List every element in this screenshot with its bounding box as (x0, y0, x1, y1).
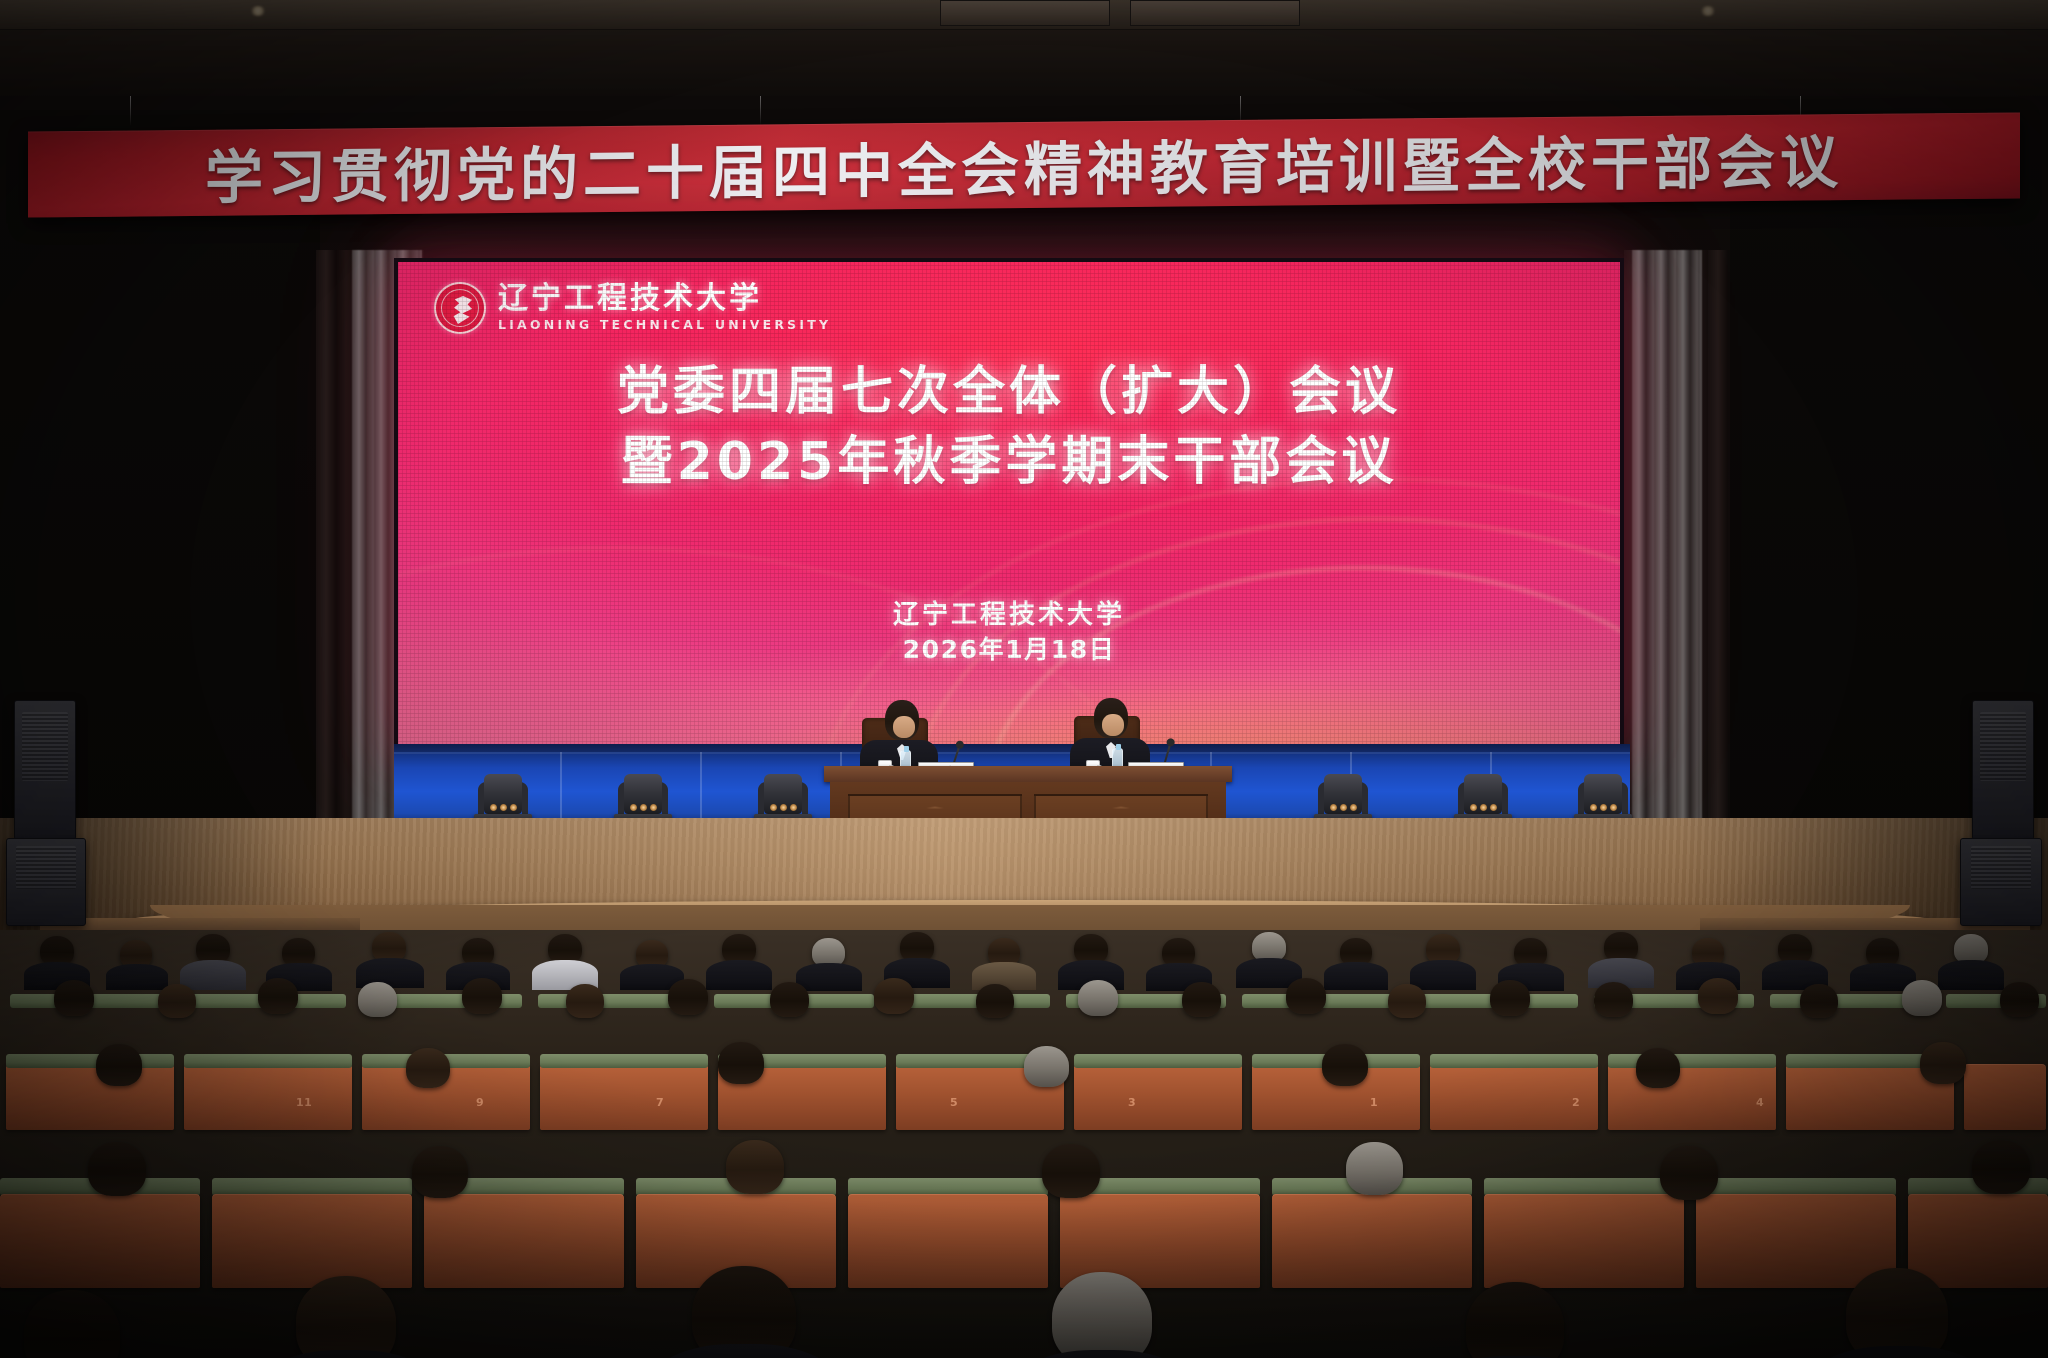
line-array-speaker-left (14, 700, 76, 840)
seat-number: 1 (1370, 1096, 1378, 1109)
table-top (824, 766, 1232, 782)
audience-seating: 11 9 7 5 3 1 2 4 (0, 930, 2048, 1358)
led-vignette (398, 262, 1620, 754)
ceiling-light (1700, 6, 1716, 16)
line-array-speaker-left-sub (6, 838, 86, 926)
seat-number: 4 (1756, 1096, 1764, 1109)
line-array-speaker-right-sub (1960, 838, 2042, 926)
sheer-curtain-right (1632, 250, 1702, 845)
conference-hall-photo: 学习贯彻党的二十届四中全会精神教育培训暨全校干部会议 辽宁工程技术大学 LIAO… (0, 0, 2048, 1358)
line-array-speaker-right (1972, 700, 2034, 840)
ceiling-vent (940, 0, 1110, 26)
seat-number: 2 (1572, 1096, 1580, 1109)
banner-headline: 学习贯彻党的二十届四中全会精神教育培训暨全校干部会议 (28, 113, 2020, 216)
led-screen-surface: 辽宁工程技术大学 LIAONING TECHNICAL UNIVERSITY 党… (398, 262, 1620, 754)
seat-number: 9 (476, 1096, 484, 1109)
seat-number: 5 (950, 1096, 958, 1109)
ceiling-light (250, 6, 266, 16)
ceiling-vent (1130, 0, 1300, 26)
seat-number: 7 (656, 1096, 664, 1109)
seat-number: 11 (296, 1096, 312, 1109)
seat-number: 3 (1128, 1096, 1136, 1109)
led-screen: 辽宁工程技术大学 LIAONING TECHNICAL UNIVERSITY 党… (394, 258, 1624, 758)
